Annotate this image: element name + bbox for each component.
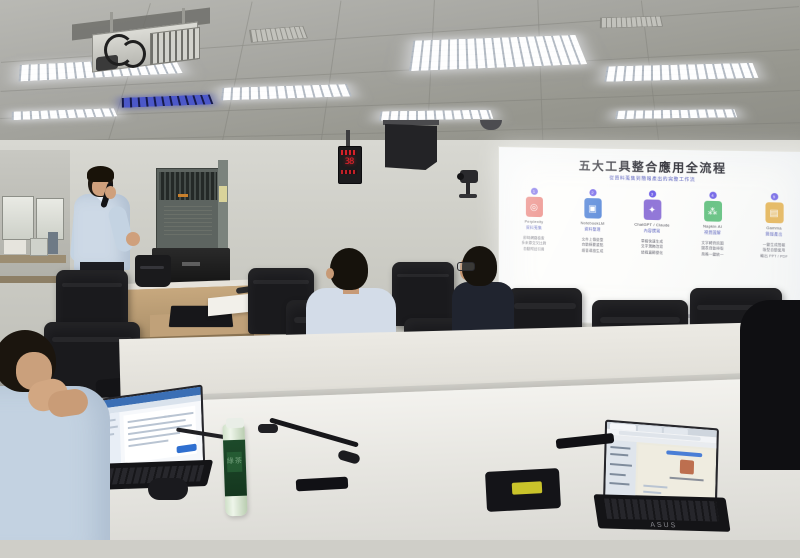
tool-bullets: 草稿快速生成 文字潤飾改寫 結構邏輯優化 — [641, 239, 663, 258]
laptop-right-keyboard[interactable]: ASUS — [593, 494, 730, 532]
window-pane — [2, 196, 34, 240]
led-time-display: 38 — [341, 157, 357, 168]
tool-bullets: 即時網路檢索 多來源交叉比對 自動附註引用 — [521, 235, 546, 254]
led-segment-row — [341, 150, 357, 155]
notebook-icon: ▣ — [584, 198, 601, 219]
projector-rod — [110, 12, 113, 34]
projector-cable — [120, 40, 146, 68]
tool-bullet: 輸出 PPT / PDF — [760, 254, 787, 261]
attendee-mid-ear — [326, 268, 334, 279]
laptop-right-ui — [605, 422, 717, 507]
diagram-icon: ⁂ — [704, 201, 722, 222]
slide-tool-row: 1 ◎ Perplexity 資料蒐集 即時網路檢索 多來源交叉比對 自動附註引… — [505, 187, 800, 298]
mixer-indicator — [178, 194, 188, 197]
tool-glyph: ▣ — [588, 204, 597, 213]
tool-bullet: 自動附註引用 — [521, 247, 546, 254]
rack-window — [164, 206, 212, 238]
conference-room-photo: 五大工具整合應用全流程 從資料蒐集到簡報產出的完整工作流 1 ◎ Perplex… — [0, 0, 800, 558]
eyeglasses-icon — [457, 262, 475, 271]
wall-fixture — [48, 232, 58, 254]
table-front-edge — [0, 540, 800, 558]
chat-icon: ✦ — [643, 199, 661, 220]
wall-notice — [4, 240, 26, 254]
wall-outlet — [30, 238, 48, 256]
document-seal-icon — [680, 459, 694, 474]
tool-zh-name: 資料蒐集 — [526, 225, 542, 230]
slide-tool-card: 2 ▣ NotebookLM 資料整理 文件上傳彙整 自動摘要重點 語音導讀生成 — [563, 188, 622, 291]
tool-name: NotebookLM — [581, 221, 605, 226]
presenter-hair — [87, 166, 114, 182]
slide-tool-card: 3 ✦ ChatGPT / Claude 內容撰寫 草稿快速生成 文字潤飾改寫 … — [622, 190, 682, 294]
slide-tool-card: 4 ⁂ Napkin AI 視覺圖解 文字轉資訊圖 圖表自動排版 風格一鍵統一 — [682, 191, 743, 296]
speakerphone-puck[interactable] — [148, 478, 188, 500]
step-badge: 4 — [709, 192, 716, 199]
led-segment-row — [341, 170, 357, 174]
tool-name: Gamma — [766, 226, 782, 231]
slide-tool-card: 1 ◎ Perplexity 資料蒐集 即時網路檢索 多來源交叉比對 自動附註引… — [505, 187, 563, 289]
step-badge: 1 — [530, 188, 537, 195]
attendee-mid-head — [330, 248, 368, 290]
tool-glyph: ✦ — [648, 205, 656, 214]
projector-vent — [150, 27, 200, 65]
tool-name: ChatGPT / Claude — [634, 223, 669, 228]
ceiling-light-panel — [379, 110, 493, 121]
ceiling-air-vent — [600, 16, 663, 28]
tool-bullets: 一鍵生成簡報 版型自動套用 輸出 PPT / PDF — [760, 242, 787, 261]
tool-name: Perplexity — [525, 220, 544, 225]
office-chair — [392, 262, 454, 326]
step-badge: 5 — [770, 193, 777, 200]
bottle-label-accent — [227, 452, 243, 473]
slides-icon: ▤ — [765, 202, 783, 223]
tool-bullet: 語音導讀生成 — [582, 249, 604, 256]
wall-shelf — [0, 276, 58, 283]
tool-bullets: 文件上傳彙整 自動摘要重點 語音導讀生成 — [582, 237, 604, 256]
presenter-hand — [126, 232, 140, 246]
search-icon: ◎ — [525, 197, 542, 218]
camera-base — [459, 194, 477, 198]
tool-bullet: 風格一鍵統一 — [701, 253, 723, 260]
bottle-cap — [226, 418, 244, 429]
amplifier-brand-plate — [182, 262, 200, 266]
backpack — [135, 255, 171, 287]
tool-glyph: ▤ — [769, 208, 778, 218]
rack-label — [219, 186, 227, 202]
tool-glyph: ⁂ — [708, 207, 717, 216]
tool-bullets: 文字轉資訊圖 圖表自動排版 風格一鍵統一 — [701, 240, 723, 259]
attendee-front-right-silhouette — [740, 300, 800, 470]
microphone-base — [258, 424, 278, 433]
tool-zh-name: 資料整理 — [584, 227, 600, 233]
tool-zh-name: 內容撰寫 — [644, 228, 661, 234]
tool-name: Napkin AI — [703, 224, 722, 229]
slide-tool-card: 5 ▤ Gamma 簡報產出 一鍵生成簡報 版型自動套用 輸出 PPT / PD… — [743, 192, 800, 298]
step-badge: 2 — [589, 189, 596, 196]
tool-zh-name: 視覺圖解 — [704, 230, 721, 236]
tool-zh-name: 簡報產出 — [765, 232, 782, 238]
step-badge: 3 — [648, 190, 655, 197]
audio-mixer-panel — [159, 172, 217, 200]
wall-speaker — [385, 124, 437, 170]
backpack-strap — [140, 266, 164, 269]
tool-glyph: ◎ — [530, 202, 538, 211]
presenter-hand — [105, 186, 116, 199]
tool-bullet: 結構邏輯優化 — [641, 251, 663, 258]
camera-lens-icon — [457, 173, 464, 180]
case-label — [512, 481, 543, 495]
wall-shelf — [0, 255, 66, 263]
